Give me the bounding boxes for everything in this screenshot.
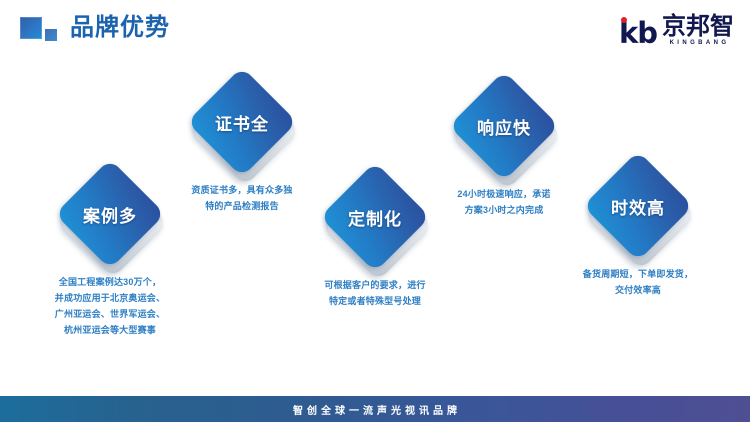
- header-square-large-icon: [20, 17, 42, 39]
- logo-chinese-text: 京邦智: [662, 14, 734, 39]
- feature-item-4[interactable]: 时效高 备货周期短，下单即发货， 交付效率高: [538, 152, 738, 298]
- logo-dot-icon: [621, 17, 627, 23]
- caption-line: 特定或者特殊型号处理: [275, 293, 475, 309]
- slide-canvas: 品牌优势 kb 京邦智 KINGBANG 案例多 全国工程案例达30万个， 并成…: [0, 0, 750, 422]
- logo-wordmark: 京邦智 KINGBANG: [662, 14, 734, 48]
- caption-line: 广州亚运会、世界军运会、: [10, 306, 210, 322]
- diamond-shape-4: 时效高: [584, 152, 692, 260]
- header-square-small-icon: [45, 29, 57, 41]
- brand-logo: kb 京邦智 KINGBANG: [619, 14, 734, 48]
- caption-line: 备货周期短，下单即发货，: [538, 266, 738, 282]
- slide-footer: 智创全球一流声光视讯品牌: [0, 396, 750, 422]
- logo-english-text: KINGBANG: [667, 39, 730, 47]
- caption-line: 可根据客户的要求，进行: [275, 277, 475, 293]
- feature-caption-4: 备货周期短，下单即发货， 交付效率高: [538, 266, 738, 298]
- caption-line: 交付效率高: [538, 282, 738, 298]
- caption-line: 并成功应用于北京奥运会、: [10, 290, 210, 306]
- page-title: 品牌优势: [70, 12, 170, 44]
- diamond-shape-1: 证书全: [188, 68, 296, 176]
- diamond-label-1: 证书全: [188, 68, 296, 176]
- caption-line: 杭州亚运会等大型赛事: [10, 322, 210, 338]
- logo-mark: kb: [619, 19, 657, 48]
- feature-caption-2: 可根据客户的要求，进行 特定或者特殊型号处理: [275, 277, 475, 309]
- diamond-label-4: 时效高: [584, 152, 692, 260]
- feature-caption-0: 全国工程案例达30万个， 并成功应用于北京奥运会、 广州亚运会、世界军运会、 杭…: [10, 274, 210, 338]
- footer-slogan: 智创全球一流声光视讯品牌: [289, 402, 461, 417]
- caption-line: 全国工程案例达30万个，: [10, 274, 210, 290]
